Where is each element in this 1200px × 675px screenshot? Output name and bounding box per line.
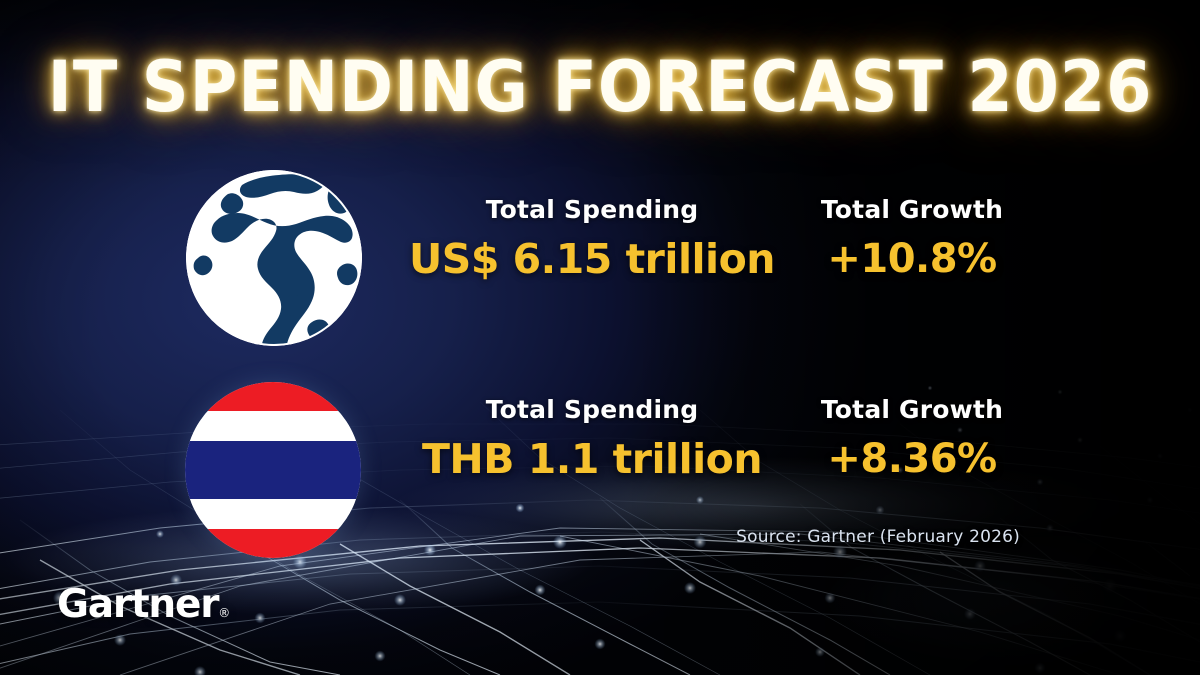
thailand-spending-column: Total Spending THB 1.1 trillion bbox=[396, 396, 788, 481]
global-spending-label: Total Spending bbox=[396, 196, 788, 224]
flag-band-red-bottom bbox=[185, 529, 361, 558]
thailand-flag-icon bbox=[185, 382, 361, 558]
flag-band-blue bbox=[185, 441, 361, 500]
thailand-growth-column: Total Growth +8.36% bbox=[788, 396, 1036, 480]
infographic-canvas: IT SPENDING FORECAST 2026 T bbox=[0, 0, 1200, 675]
source-note: Source: Gartner (February 2026) bbox=[396, 527, 1036, 547]
global-growth-label: Total Growth bbox=[788, 196, 1036, 224]
global-growth-value: +10.8% bbox=[788, 238, 1036, 280]
flag-band-red-top bbox=[185, 382, 361, 411]
page-title: IT SPENDING FORECAST 2026 bbox=[42, 52, 1158, 122]
registered-trademark-mark: ® bbox=[218, 606, 230, 620]
thailand-growth-label: Total Growth bbox=[788, 396, 1036, 424]
thailand-growth-value: +8.36% bbox=[788, 438, 1036, 480]
global-spending-column: Total Spending US$ 6.15 trillion bbox=[396, 196, 788, 281]
gartner-logo: Gartner® bbox=[57, 585, 230, 624]
thailand-spending-value: THB 1.1 trillion bbox=[396, 438, 788, 481]
global-spending-value: US$ 6.15 trillion bbox=[396, 238, 788, 281]
flag-band-white-top bbox=[185, 411, 361, 440]
stat-row-global: Total Spending US$ 6.15 trillion Total G… bbox=[396, 196, 1036, 281]
gartner-logo-text: Gartner bbox=[57, 582, 218, 627]
thailand-spending-label: Total Spending bbox=[396, 396, 788, 424]
globe-icon bbox=[186, 170, 362, 346]
stat-row-thailand: Total Spending THB 1.1 trillion Total Gr… bbox=[396, 396, 1036, 481]
global-growth-column: Total Growth +10.8% bbox=[788, 196, 1036, 280]
flag-band-white-bottom bbox=[185, 499, 361, 528]
